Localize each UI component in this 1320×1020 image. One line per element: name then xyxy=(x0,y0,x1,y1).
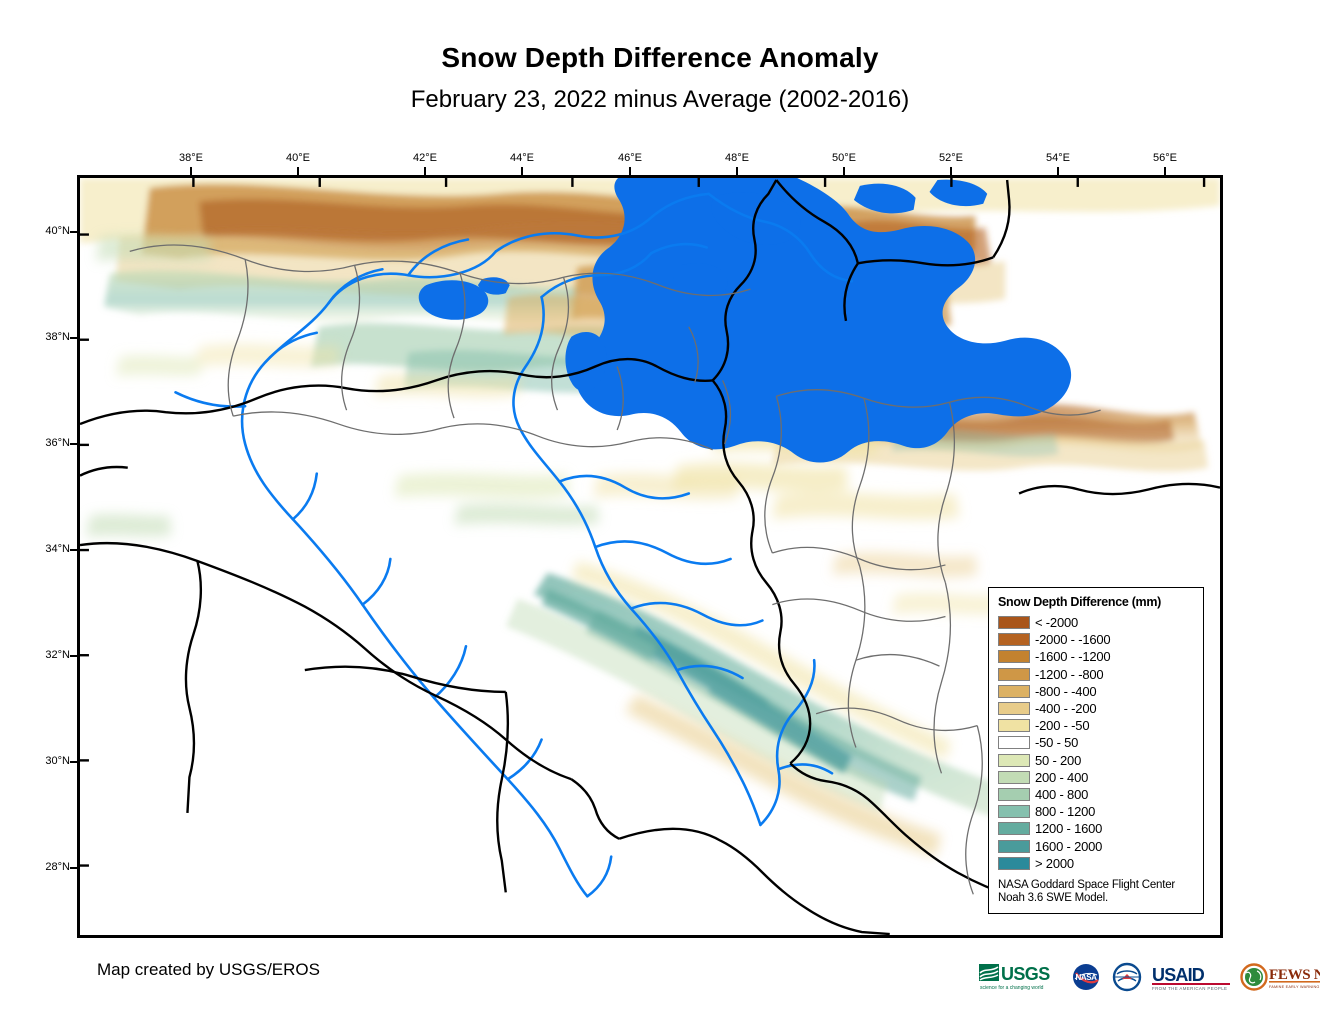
legend-label: -50 - 50 xyxy=(1035,735,1078,750)
lon-label: 42°E xyxy=(395,152,455,164)
lat-label: 38°N xyxy=(20,331,70,343)
lon-label: 40°E xyxy=(268,152,328,164)
page-title: Snow Depth Difference Anomaly xyxy=(0,42,1320,74)
svg-text:USAID: USAID xyxy=(1152,965,1205,985)
legend-swatch xyxy=(998,702,1030,715)
usaid-logo: USAID FROM THE AMERICAN PEOPLE xyxy=(1151,960,1233,994)
legend-label: 200 - 400 xyxy=(1035,770,1088,785)
svg-text:FAMINE EARLY WARNING SYSTEMS N: FAMINE EARLY WARNING SYSTEMS NETWORK xyxy=(1269,985,1320,989)
legend-item[interactable]: 50 - 200 xyxy=(998,752,1203,769)
lat-label: 32°N xyxy=(20,649,70,661)
legend-swatch xyxy=(998,857,1030,870)
legend-swatch xyxy=(998,668,1030,681)
legend-swatch xyxy=(998,616,1030,629)
legend-swatch xyxy=(998,822,1030,835)
legend-item[interactable]: 200 - 400 xyxy=(998,769,1203,786)
legend-label: 50 - 200 xyxy=(1035,753,1081,768)
legend-item[interactable]: -1200 - -800 xyxy=(998,666,1203,683)
legend-label: 400 - 800 xyxy=(1035,787,1088,802)
legend-credit-line-2: Noah 3.6 SWE Model. xyxy=(998,892,1203,906)
lon-label: 46°E xyxy=(600,152,660,164)
lat-label: 34°N xyxy=(20,543,70,555)
lon-label: 54°E xyxy=(1028,152,1088,164)
svg-text:USGS: USGS xyxy=(1001,964,1050,984)
usgs-wave-mark xyxy=(979,964,999,981)
legend-credit-line-1: NASA Goddard Space Flight Center xyxy=(998,879,1203,893)
legend-item[interactable]: < -2000 xyxy=(998,614,1203,631)
svg-text:science for a changing world: science for a changing world xyxy=(980,985,1044,991)
legend-label: -1600 - -1200 xyxy=(1035,649,1110,664)
svg-text:NASA: NASA xyxy=(1075,973,1097,982)
legend-swatch xyxy=(998,719,1030,732)
fewsnet-logo: FEWS NET FAMINE EARLY WARNING SYSTEMS NE… xyxy=(1240,960,1320,994)
legend-swatch xyxy=(998,805,1030,818)
legend-item[interactable]: 800 - 1200 xyxy=(998,803,1203,820)
noaa-logo xyxy=(1110,960,1144,994)
lon-label: 50°E xyxy=(814,152,874,164)
legend-swatch xyxy=(998,650,1030,663)
legend-item[interactable]: > 2000 xyxy=(998,855,1203,872)
lon-label: 44°E xyxy=(492,152,552,164)
lon-label: 56°E xyxy=(1135,152,1195,164)
legend-label: > 2000 xyxy=(1035,856,1074,871)
legend-item[interactable]: -400 - -200 xyxy=(998,700,1203,717)
legend-label: 800 - 1200 xyxy=(1035,804,1095,819)
page-subtitle: February 23, 2022 minus Average (2002-20… xyxy=(0,86,1320,114)
nasa-logo: NASA xyxy=(1069,960,1103,994)
legend-label: -2000 - -1600 xyxy=(1035,632,1110,647)
svg-text:FROM THE AMERICAN PEOPLE: FROM THE AMERICAN PEOPLE xyxy=(1152,986,1227,991)
legend-item[interactable]: -50 - 50 xyxy=(998,734,1203,751)
map-credit: Map created by USGS/EROS xyxy=(97,960,320,980)
legend-label: -200 - -50 xyxy=(1035,718,1089,733)
legend-label: -1200 - -800 xyxy=(1035,667,1103,682)
legend-label: < -2000 xyxy=(1035,615,1078,630)
legend-item[interactable]: -2000 - -1600 xyxy=(998,631,1203,648)
legend-item[interactable]: -1600 - -1200 xyxy=(998,648,1203,665)
lat-label: 36°N xyxy=(20,437,70,449)
lat-label: 28°N xyxy=(20,861,70,873)
legend-item[interactable]: 1600 - 2000 xyxy=(998,837,1203,854)
legend-label: -400 - -200 xyxy=(1035,701,1096,716)
legend-title: Snow Depth Difference (mm) xyxy=(998,595,1203,609)
lat-label: 40°N xyxy=(20,225,70,237)
legend-label: 1200 - 1600 xyxy=(1035,821,1102,836)
legend-credit: NASA Goddard Space Flight Center Noah 3.… xyxy=(998,879,1203,906)
lon-label: 48°E xyxy=(707,152,767,164)
fewsnet-globe-icon xyxy=(1242,965,1267,990)
legend-item[interactable]: 400 - 800 xyxy=(998,786,1203,803)
lat-label: 30°N xyxy=(20,755,70,767)
lon-label: 38°E xyxy=(161,152,221,164)
legend-label: 1600 - 2000 xyxy=(1035,839,1102,854)
legend-swatch xyxy=(998,633,1030,646)
legend-item[interactable]: 1200 - 1600 xyxy=(998,820,1203,837)
svg-text:FEWS NET: FEWS NET xyxy=(1269,967,1320,983)
legend-swatch xyxy=(998,754,1030,767)
lon-label: 52°E xyxy=(921,152,981,164)
agency-logos: USGS science for a changing world NASA U… xyxy=(978,956,1320,998)
usgs-logo: USGS science for a changing world xyxy=(978,960,1062,994)
legend-swatch xyxy=(998,788,1030,801)
legend-swatch xyxy=(998,736,1030,749)
usaid-rule xyxy=(1152,983,1230,985)
legend-swatch xyxy=(998,685,1030,698)
legend-swatch xyxy=(998,840,1030,853)
legend-swatch xyxy=(998,771,1030,784)
legend-item[interactable]: -800 - -400 xyxy=(998,683,1203,700)
legend-item[interactable]: -200 - -50 xyxy=(998,717,1203,734)
legend-label: -800 - -400 xyxy=(1035,684,1096,699)
map-legend[interactable]: Snow Depth Difference (mm) < -2000 -2000… xyxy=(988,587,1204,914)
